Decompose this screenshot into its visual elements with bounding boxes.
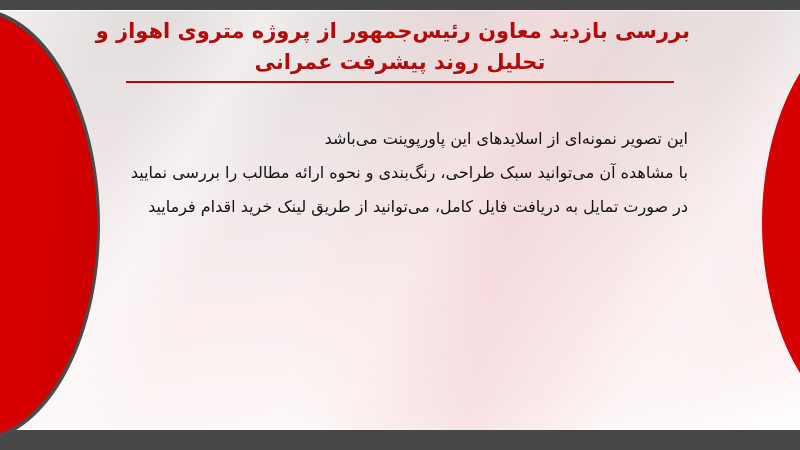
slide-title-line-1: بررسی بازدید معاون رئیس‌جمهور از پروژه م… [110,16,690,47]
slide-title: بررسی بازدید معاون رئیس‌جمهور از پروژه م… [110,16,690,83]
body-text-line-1: این تصویر نمونه‌ای از اسلایدهای این پاور… [110,122,688,156]
bottom-frame-band [0,428,800,450]
body-text-line-2: با مشاهده آن می‌توانید سبک طراحی، رنگ‌بن… [110,156,688,190]
body-text-line-3: در صورت تمایل به دریافت فایل کامل، می‌تو… [110,190,688,224]
title-underline-rule [126,81,674,83]
slide-canvas: بررسی بازدید معاون رئیس‌جمهور از پروژه م… [0,0,800,450]
slide-body-text: این تصویر نمونه‌ای از اسلایدهای این پاور… [110,122,688,224]
slide-title-line-2: تحلیل روند پیشرفت عمرانی [110,47,690,78]
